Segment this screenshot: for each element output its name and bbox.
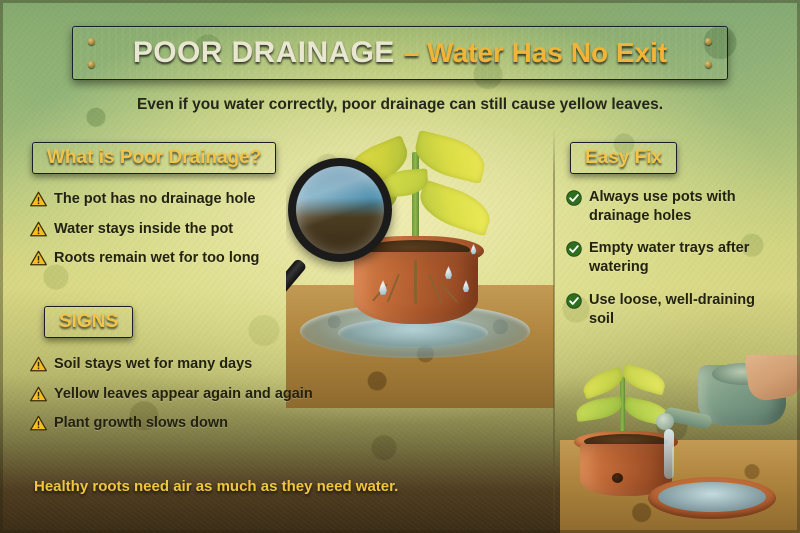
screw-icon xyxy=(705,38,712,45)
warning-triangle-icon xyxy=(30,250,47,266)
list-item-label: Roots remain wet for too long xyxy=(54,249,259,268)
screw-icon xyxy=(88,61,95,68)
panel-divider xyxy=(553,128,555,533)
heading-label: What is Poor Drainage? xyxy=(47,147,261,169)
list-item-label: Yellow leaves appear again and again xyxy=(54,385,313,404)
check-circle-icon xyxy=(566,241,582,257)
check-circle-icon xyxy=(566,190,582,206)
page-subtitle: Even if you water correctly, poor draina… xyxy=(0,96,800,114)
warning-triangle-icon xyxy=(30,191,47,207)
warning-triangle-icon xyxy=(30,356,47,372)
list-item-label: Water stays inside the pot xyxy=(54,220,233,239)
illustration-correct-watering xyxy=(560,355,800,533)
heading-signs: SIGNS xyxy=(44,306,133,338)
warning-triangle-icon xyxy=(30,415,47,431)
list-item-label: Plant growth slows down xyxy=(54,414,228,433)
list-item-label: The pot has no drainage hole xyxy=(54,190,255,209)
list-signs: Soil stays wet for many days Yellow leav… xyxy=(30,355,360,444)
list-item: Roots remain wet for too long xyxy=(30,249,315,268)
screw-icon xyxy=(705,61,712,68)
check-circle-icon xyxy=(566,293,582,309)
list-item: Soil stays wet for many days xyxy=(30,355,360,374)
screw-icon xyxy=(88,38,95,45)
list-item: The pot has no drainage hole xyxy=(30,190,315,209)
heading-label: Easy Fix xyxy=(585,147,662,169)
list-item: Always use pots with drainage holes xyxy=(566,188,766,226)
list-easy-fix: Always use pots with drainage holes Empt… xyxy=(566,188,766,342)
heading-what-is-poor-drainage: What is Poor Drainage? xyxy=(32,142,276,174)
title-banner: POOR DRAINAGE – Water Has No Exit xyxy=(72,26,728,80)
list-item: Use loose, well-draining soil xyxy=(566,291,766,329)
heading-easy-fix: Easy Fix xyxy=(570,142,677,174)
list-item: Empty water trays after watering xyxy=(566,239,766,277)
warning-triangle-icon xyxy=(30,386,47,402)
warning-triangle-icon xyxy=(30,221,47,237)
page-title-accent: – Water Has No Exit xyxy=(404,37,667,69)
list-item: Water stays inside the pot xyxy=(30,220,315,239)
page-title-main: POOR DRAINAGE xyxy=(133,36,395,70)
list-item-label: Always use pots with drainage holes xyxy=(589,188,766,226)
list-item: Plant growth slows down xyxy=(30,414,360,433)
footer-note: Healthy roots need air as much as they n… xyxy=(34,478,398,495)
heading-label: SIGNS xyxy=(59,311,118,333)
list-item: Yellow leaves appear again and again xyxy=(30,385,360,404)
list-what-is-poor-drainage: The pot has no drainage hole Water stays… xyxy=(30,190,315,279)
list-item-label: Empty water trays after watering xyxy=(589,239,766,277)
drainage-hole xyxy=(612,473,623,483)
infographic-canvas: POOR DRAINAGE – Water Has No Exit Even i… xyxy=(0,0,800,533)
list-item-label: Soil stays wet for many days xyxy=(54,355,252,374)
list-item-label: Use loose, well-draining soil xyxy=(589,291,766,329)
